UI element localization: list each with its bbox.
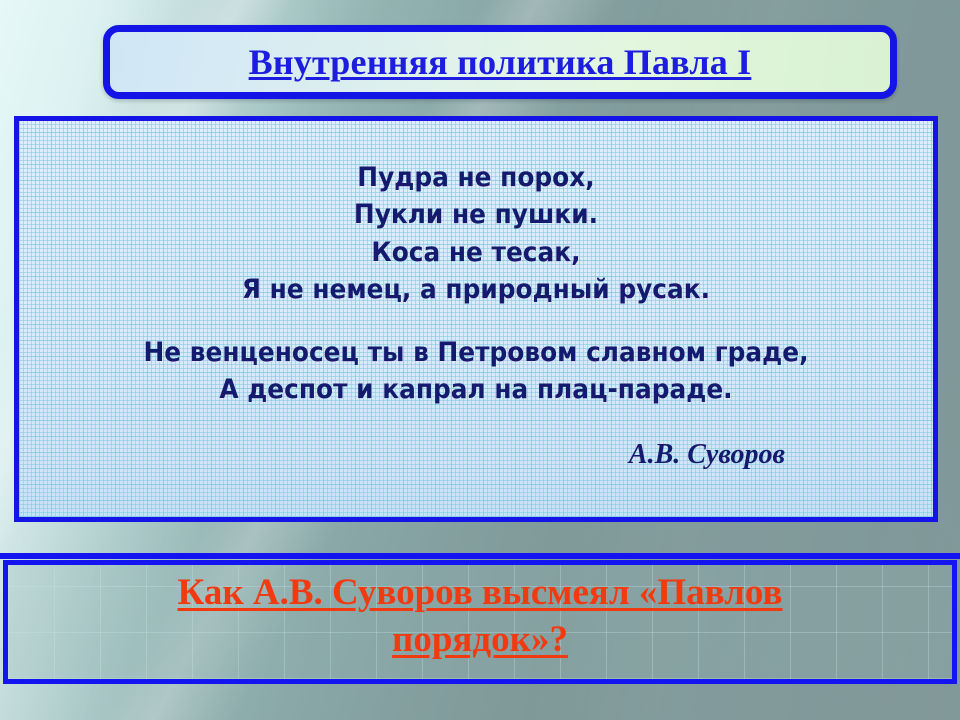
poem-body: Пудра не порох, Пукли не пушки. Коса не … (79, 159, 872, 409)
page-title: Внутренняя политика Павла I (249, 41, 752, 83)
quote-box: Пудра не порох, Пукли не пушки. Коса не … (14, 116, 938, 522)
poem-line: Не венценосец ты в Петровом славном град… (79, 334, 872, 371)
poem-line: Коса не тесак, (79, 234, 872, 271)
poem-line: Пукли не пушки. (79, 196, 872, 233)
poem-stanza-gap (79, 308, 872, 334)
question-text: Как А.В. Суворов высмеял «Павлов порядок… (95, 569, 865, 664)
poem-line: Пудра не порох, (79, 159, 872, 196)
title-box: Внутренняя политика Павла I (103, 25, 897, 99)
divider-rule (0, 553, 960, 559)
poem-line: А деспот и капрал на плац-параде. (79, 371, 872, 408)
question-box: Как А.В. Суворов высмеял «Павлов порядок… (3, 560, 957, 684)
slide: Внутренняя политика Павла I Пудра не пор… (0, 0, 960, 720)
poem-line: Я не немец, а природный русак. (79, 271, 872, 308)
quote-attribution: А.В. Суворов (45, 439, 907, 471)
